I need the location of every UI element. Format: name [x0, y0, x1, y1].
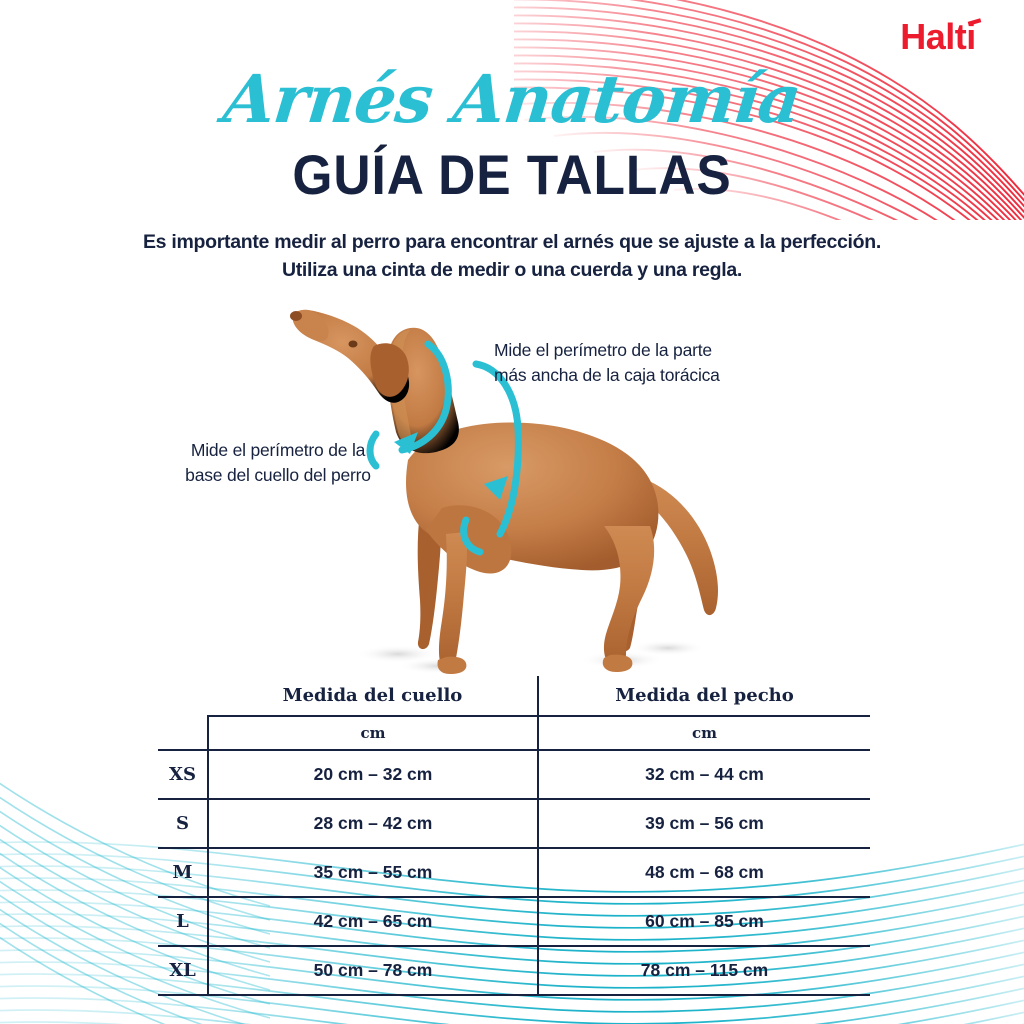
callout-neck-line-2: base del cuello del perro [168, 463, 388, 488]
table-row: L42 cm – 65 cm60 cm – 85 cm [158, 897, 870, 946]
callout-neck: Mide el perímetro de la base del cuello … [168, 438, 388, 488]
table-row: S28 cm – 42 cm39 cm – 56 cm [158, 799, 870, 848]
callout-neck-line-1: Mide el perímetro de la [168, 438, 388, 463]
page-subtitle: Es importante medir al perro para encont… [92, 228, 932, 284]
table-group-header-row: Medida del cuello Medida del pecho [158, 676, 870, 716]
cell-chest-range: 39 cm – 56 cm [538, 799, 870, 848]
cell-neck-range: 50 cm – 78 cm [208, 946, 538, 995]
group-header-neck: Medida del cuello [208, 676, 538, 716]
table-body: XS20 cm – 32 cm32 cm – 44 cmS28 cm – 42 … [158, 750, 870, 995]
table-row: M35 cm – 55 cm48 cm – 68 cm [158, 848, 870, 897]
subtitle-line-2: Utiliza una cinta de medir o una cuerda … [92, 256, 932, 284]
group-header-blank [158, 676, 208, 716]
callout-chest: Mide el perímetro de la parte más ancha … [494, 338, 774, 388]
cell-neck-range: 35 cm – 55 cm [208, 848, 538, 897]
cell-neck-range: 20 cm – 32 cm [208, 750, 538, 799]
table-row: XS20 cm – 32 cm32 cm – 44 cm [158, 750, 870, 799]
callout-chest-line-2: más ancha de la caja torácica [494, 363, 774, 388]
table-row: XL50 cm – 78 cm78 cm – 115 cm [158, 946, 870, 995]
unit-header-neck: cm [208, 716, 538, 750]
halti-logo-text: Halti [900, 16, 976, 58]
cell-chest-range: 78 cm – 115 cm [538, 946, 870, 995]
group-header-chest: Medida del pecho [538, 676, 870, 716]
cell-chest-range: 60 cm – 85 cm [538, 897, 870, 946]
cell-chest-range: 48 cm – 68 cm [538, 848, 870, 897]
unit-header-blank [158, 716, 208, 750]
cell-size: M [158, 848, 208, 897]
halti-logo: Halti [874, 4, 1002, 70]
unit-header-chest: cm [538, 716, 870, 750]
cell-neck-range: 28 cm – 42 cm [208, 799, 538, 848]
table-unit-header-row: cm cm [158, 716, 870, 750]
cell-size: S [158, 799, 208, 848]
cell-chest-range: 32 cm – 44 cm [538, 750, 870, 799]
cell-size: XS [158, 750, 208, 799]
size-chart-table: Medida del cuello Medida del pecho cm cm… [158, 676, 870, 996]
subtitle-line-1: Es importante medir al perro para encont… [92, 228, 932, 256]
script-title: Arnés Anatomía [0, 60, 1024, 138]
cell-neck-range: 42 cm – 65 cm [208, 897, 538, 946]
cell-size: L [158, 897, 208, 946]
size-guide-page: Halti Arnés Anatomía GUÍA DE TALLAS Es i… [0, 0, 1024, 1024]
callout-chest-line-1: Mide el perímetro de la parte [494, 338, 774, 363]
page-title: GUÍA DE TALLAS [41, 142, 983, 207]
cell-size: XL [158, 946, 208, 995]
